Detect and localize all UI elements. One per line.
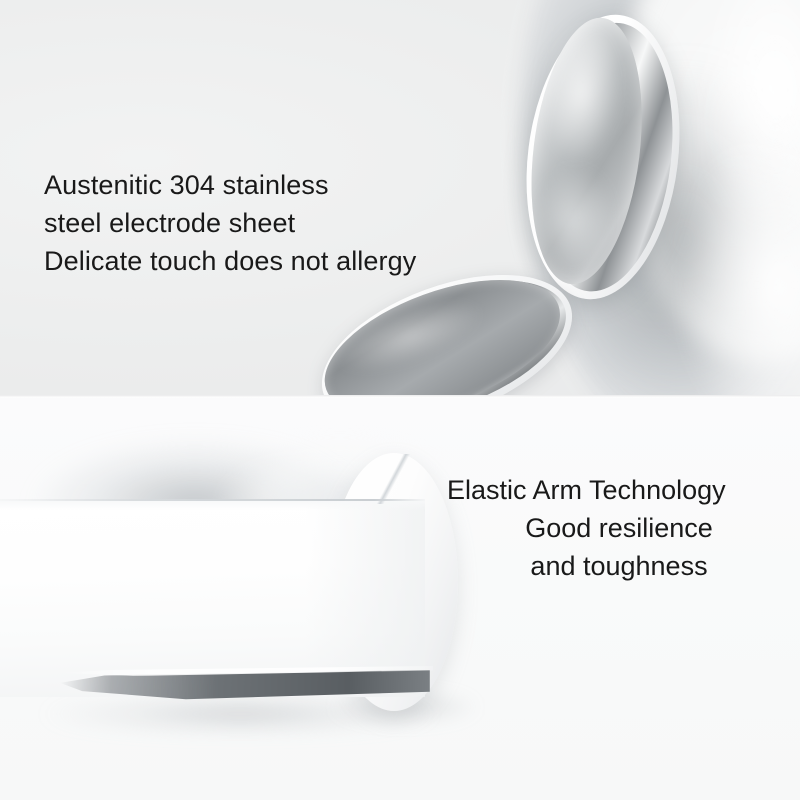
product-feature-image: Austenitic 304 stainless steel electrode… bbox=[0, 0, 800, 800]
top-feature-panel: Austenitic 304 stainless steel electrode… bbox=[0, 0, 800, 397]
top-caption-line-3: Delicate touch does not allergy bbox=[44, 242, 416, 280]
top-caption: Austenitic 304 stainless steel electrode… bbox=[44, 166, 416, 280]
bottom-caption-line-3: and toughness bbox=[447, 547, 791, 585]
bottom-feature-panel: Elastic Arm Technology Good resilience a… bbox=[0, 398, 800, 800]
bottom-caption: Elastic Arm Technology Good resilience a… bbox=[447, 471, 791, 585]
top-caption-line-1: Austenitic 304 stainless bbox=[44, 166, 416, 204]
arm-seam-diagonal bbox=[355, 454, 433, 504]
bottom-caption-line-2: Good resilience bbox=[447, 509, 791, 547]
bottom-caption-line-1: Elastic Arm Technology bbox=[447, 471, 791, 509]
top-caption-line-2: steel electrode sheet bbox=[44, 204, 416, 242]
